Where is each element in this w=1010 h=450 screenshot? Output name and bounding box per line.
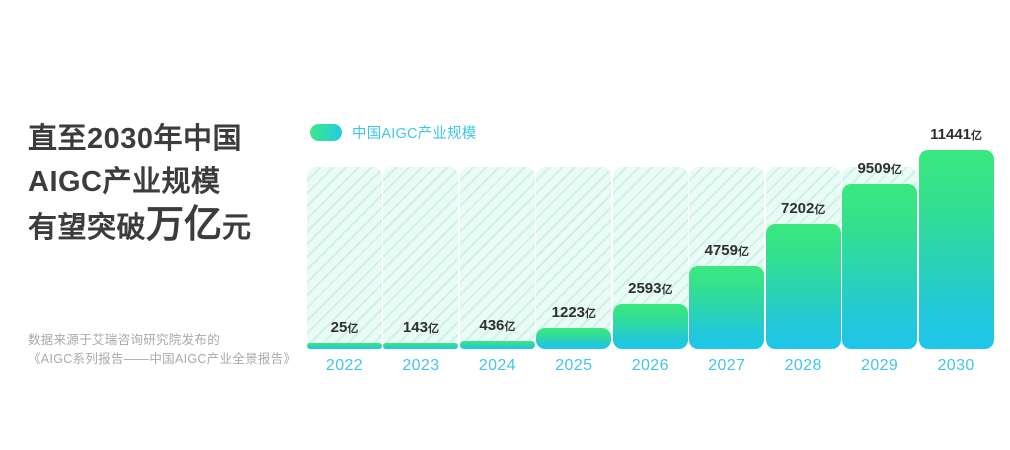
- bar-group[interactable]: 9509亿: [842, 0, 917, 349]
- axis-category-label: 2030: [919, 357, 994, 375]
- bar-fill[interactable]: [766, 224, 841, 349]
- infographic-canvas: 直至2030年中国 AIGC产业规模 有望突破万亿元 数据来源于艾瑞咨询研究院发…: [0, 0, 1010, 450]
- bar-fill[interactable]: [536, 328, 611, 349]
- bar-group[interactable]: 143亿: [383, 0, 458, 349]
- bar-value-number: 7202: [781, 200, 814, 217]
- bar-fill[interactable]: [307, 343, 382, 349]
- bar-group[interactable]: 25亿: [307, 0, 382, 349]
- bar-value-unit: 亿: [428, 323, 439, 335]
- bar-value-label: 4759亿: [689, 243, 764, 260]
- axis-category-label: 2022: [307, 357, 382, 375]
- bar-group[interactable]: 7202亿: [766, 0, 841, 349]
- bar-value-number: 4759: [705, 242, 738, 259]
- bar-value-unit: 亿: [504, 321, 515, 333]
- axis-category-label: 2024: [460, 357, 535, 375]
- bar-value-label: 1223亿: [536, 305, 611, 322]
- axis-category-label: 2025: [536, 357, 611, 375]
- bar-group[interactable]: 436亿: [460, 0, 535, 349]
- bar-value-number: 25: [331, 319, 348, 336]
- bar-value-label: 11441亿: [919, 127, 994, 144]
- bar-value-unit: 亿: [814, 204, 825, 216]
- bar-value-number: 143: [403, 319, 428, 336]
- bar-value-label: 7202亿: [766, 201, 841, 218]
- bar-value-unit: 亿: [585, 308, 596, 320]
- bar-value-unit: 亿: [891, 164, 902, 176]
- bar-fill[interactable]: [383, 343, 458, 349]
- bar-value-unit: 亿: [738, 246, 749, 258]
- bar-value-unit: 亿: [347, 323, 358, 335]
- axis-category-label: 2029: [842, 357, 917, 375]
- bar-value-number: 11441: [930, 126, 971, 143]
- bar-value-unit: 亿: [661, 284, 672, 296]
- axis-category-label: 2023: [383, 357, 458, 375]
- bar-value-label: 2593亿: [613, 281, 688, 298]
- bar-value-number: 436: [479, 317, 504, 334]
- bar-group[interactable]: 4759亿: [689, 0, 764, 349]
- bar-fill[interactable]: [919, 150, 994, 349]
- axis-category-label: 2027: [689, 357, 764, 375]
- bar-value-label: 143亿: [383, 320, 458, 337]
- axis-category-label: 2026: [613, 357, 688, 375]
- bar-fill[interactable]: [689, 266, 764, 349]
- bar-group[interactable]: 11441亿: [919, 0, 994, 349]
- bar-chart: 25亿2022143亿2023436亿20241223亿20252593亿202…: [0, 0, 1010, 450]
- bar-group[interactable]: 2593亿: [613, 0, 688, 349]
- axis-category-label: 2028: [766, 357, 841, 375]
- bar-fill[interactable]: [842, 184, 917, 349]
- bar-value-label: 436亿: [460, 318, 535, 335]
- bar-group[interactable]: 1223亿: [536, 0, 611, 349]
- bar-value-unit: 亿: [971, 130, 982, 142]
- bar-fill[interactable]: [613, 304, 688, 349]
- bar-value-number: 9509: [857, 160, 890, 177]
- bar-fill[interactable]: [460, 341, 535, 349]
- bar-value-number: 1223: [552, 304, 585, 321]
- bar-value-label: 9509亿: [842, 161, 917, 178]
- bar-value-number: 2593: [628, 280, 661, 297]
- bar-value-label: 25亿: [307, 320, 382, 337]
